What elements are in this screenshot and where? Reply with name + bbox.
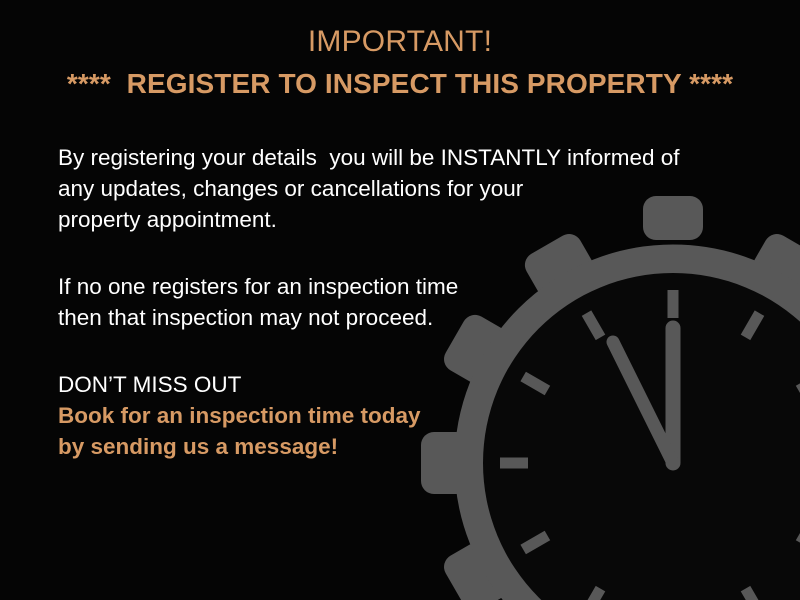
paragraph-no-registrations-warning: If no one registers for an inspection ti… [58,271,758,333]
cta-send-message: by sending us a message! [58,431,758,462]
poster-content: IMPORTANT! **** REGISTER TO INSPECT THIS… [0,0,800,600]
paragraph-registering-benefits: By registering your details you will be … [58,142,758,235]
cta-dont-miss-out: DON’T MISS OUT [58,369,758,400]
headline-register-to-inspect: **** REGISTER TO INSPECT THIS PROPERTY *… [0,66,800,102]
promotional-poster: IMPORTANT! **** REGISTER TO INSPECT THIS… [0,0,800,600]
cta-book-inspection: Book for an inspection time today [58,400,758,431]
headline-important: IMPORTANT! [0,24,800,60]
body-block: By registering your details you will be … [58,142,758,462]
headline-block: IMPORTANT! **** REGISTER TO INSPECT THIS… [0,24,800,102]
call-to-action-block: DON’T MISS OUT Book for an inspection ti… [58,369,758,462]
